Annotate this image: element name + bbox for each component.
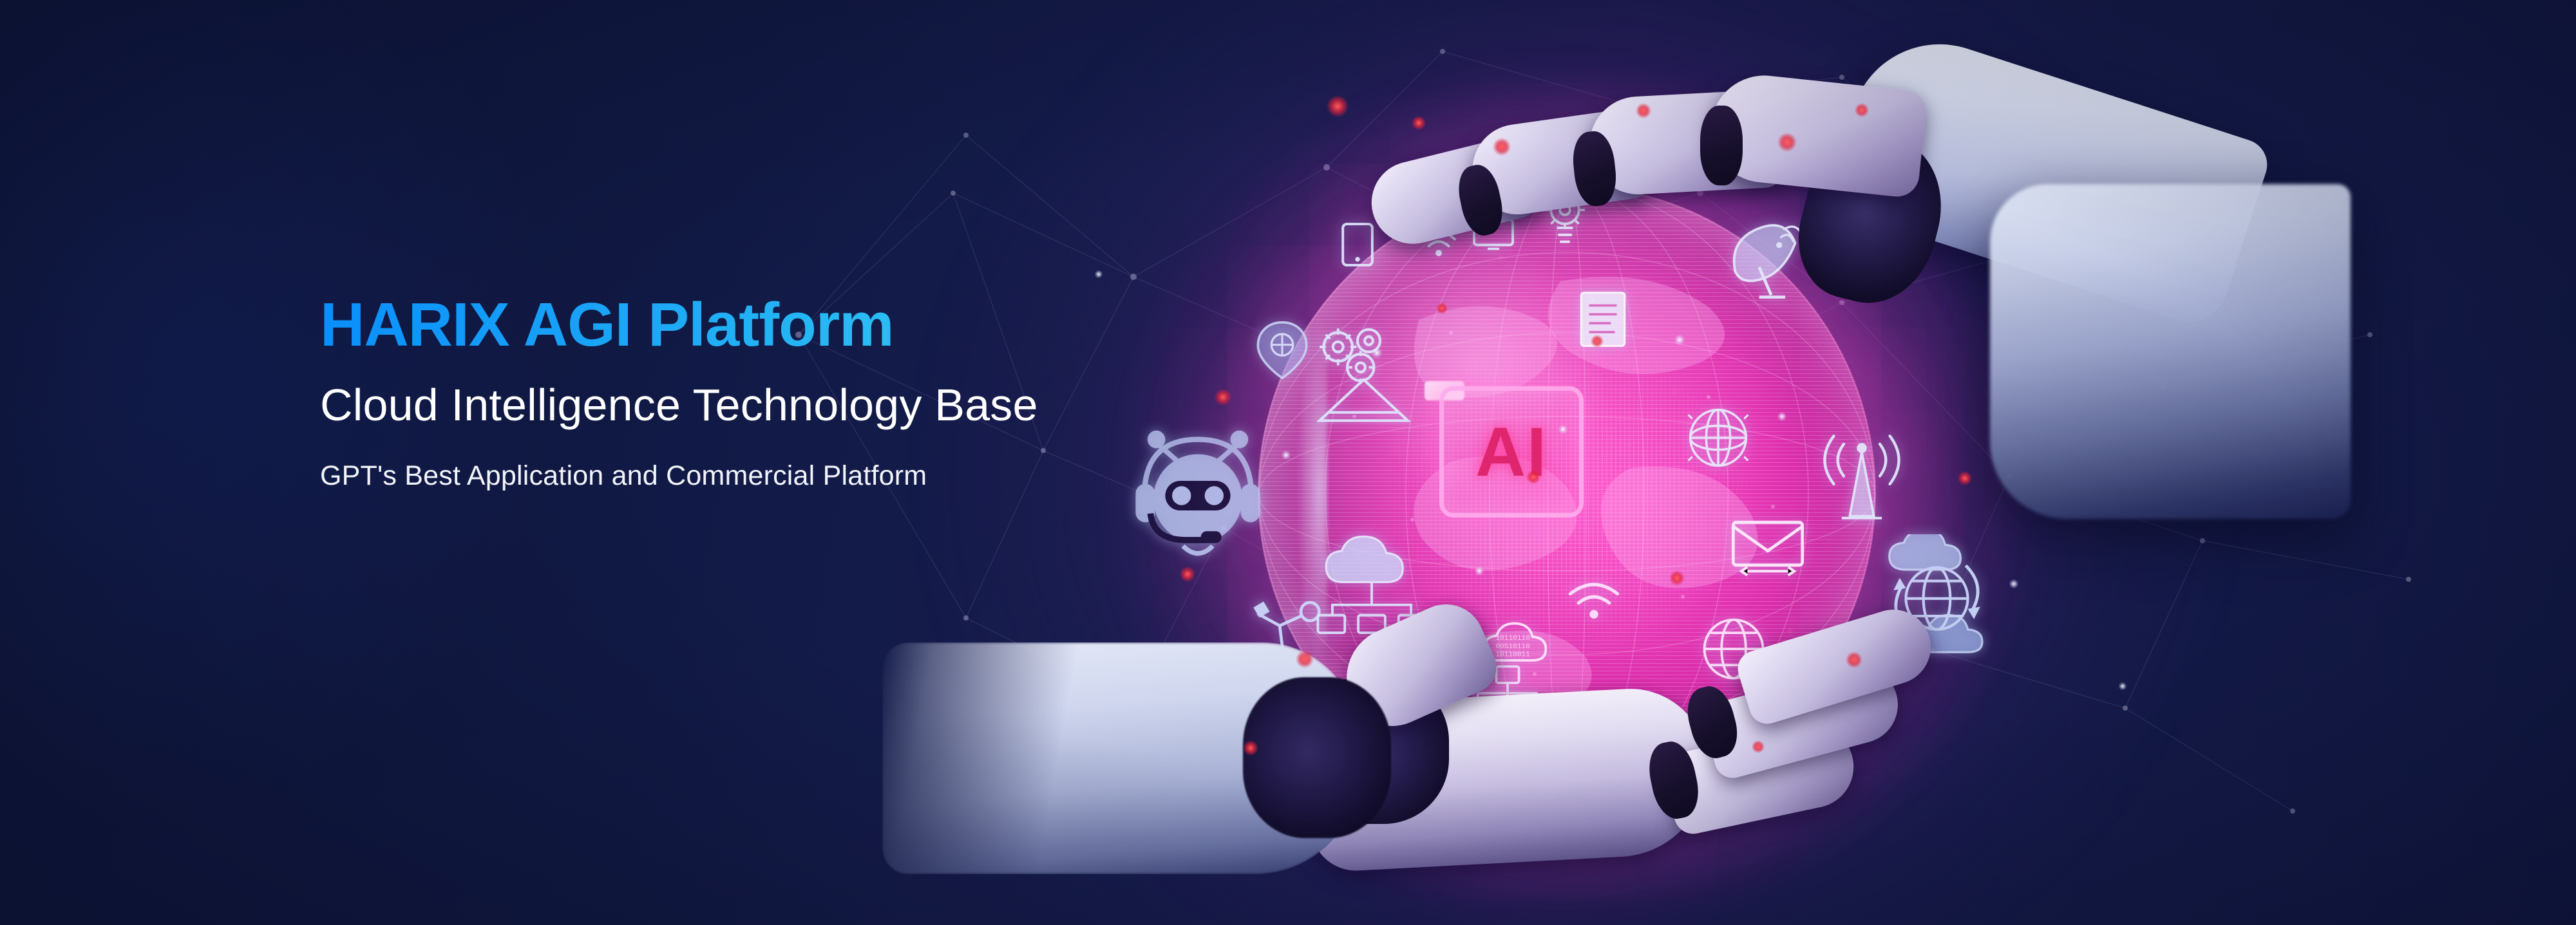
hero-banner: AI	[0, 0, 2576, 925]
page-tagline: GPT's Best Application and Commercial Pl…	[320, 461, 1286, 491]
hero-copy: HARIX AGI Platform Cloud Intelligence Te…	[320, 293, 1286, 491]
page-subtitle: Cloud Intelligence Technology Base	[320, 380, 1286, 430]
page-title: HARIX AGI Platform	[320, 293, 1286, 357]
